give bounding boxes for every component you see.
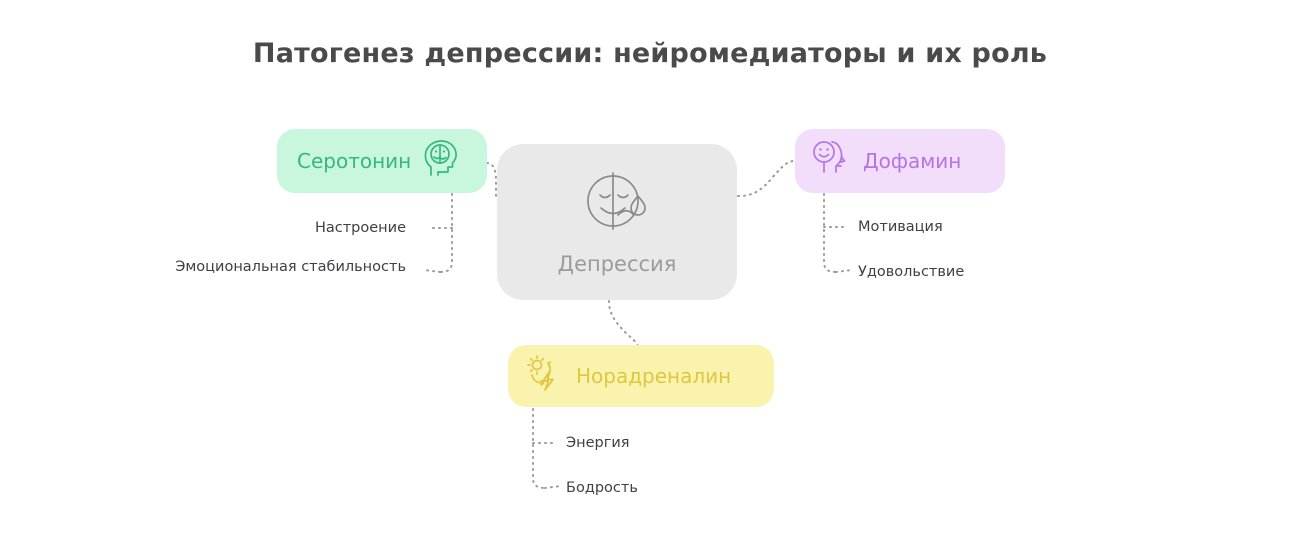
sub-label-dopamine-1: Мотивация [858, 219, 943, 235]
sub-label-noradrenaline-1: Энергия [566, 435, 630, 451]
head-split-face-icon [423, 139, 461, 183]
sub-label-noradrenaline-2: Бодрость [566, 480, 638, 496]
sub-label-dopamine-2: Удовольствие [858, 264, 964, 280]
link-serotonin-spine [440, 194, 452, 272]
node-dopamine-label: Дофамин [863, 149, 961, 173]
link-center-to-noradrenaline [609, 301, 638, 347]
node-serotonin[interactable]: Серотонин [277, 129, 487, 193]
link-noradrenaline-twig-2 [545, 486, 561, 488]
link-dopamine-spine [824, 194, 836, 272]
split-face-tear-icon [580, 168, 654, 238]
link-serotonin-to-center [487, 163, 496, 196]
node-serotonin-label: Серотонин [297, 149, 411, 173]
link-center-to-dopamine [738, 161, 795, 196]
node-noradrenaline[interactable]: Норадреналин [508, 345, 774, 407]
link-noradrenaline-spine [533, 409, 545, 488]
diagram-canvas: Патогенез депрессии: нейромедиаторы и их… [0, 0, 1300, 546]
node-depression[interactable]: Депрессия [497, 144, 737, 300]
sub-label-serotonin-1: Настроение [315, 220, 406, 236]
sun-lightning-icon [524, 354, 566, 398]
sub-label-serotonin-2: Эмоциональная стабильность [175, 259, 406, 275]
page-title: Патогенез депрессии: нейромедиаторы и их… [0, 38, 1300, 69]
node-dopamine[interactable]: Дофамин [795, 129, 1005, 193]
link-dopamine-twig-2 [836, 270, 852, 272]
node-depression-label: Депрессия [558, 252, 677, 276]
node-noradrenaline-label: Норадреналин [576, 364, 731, 388]
link-serotonin-twig-2 [424, 270, 440, 272]
head-smiley-icon [811, 139, 853, 183]
